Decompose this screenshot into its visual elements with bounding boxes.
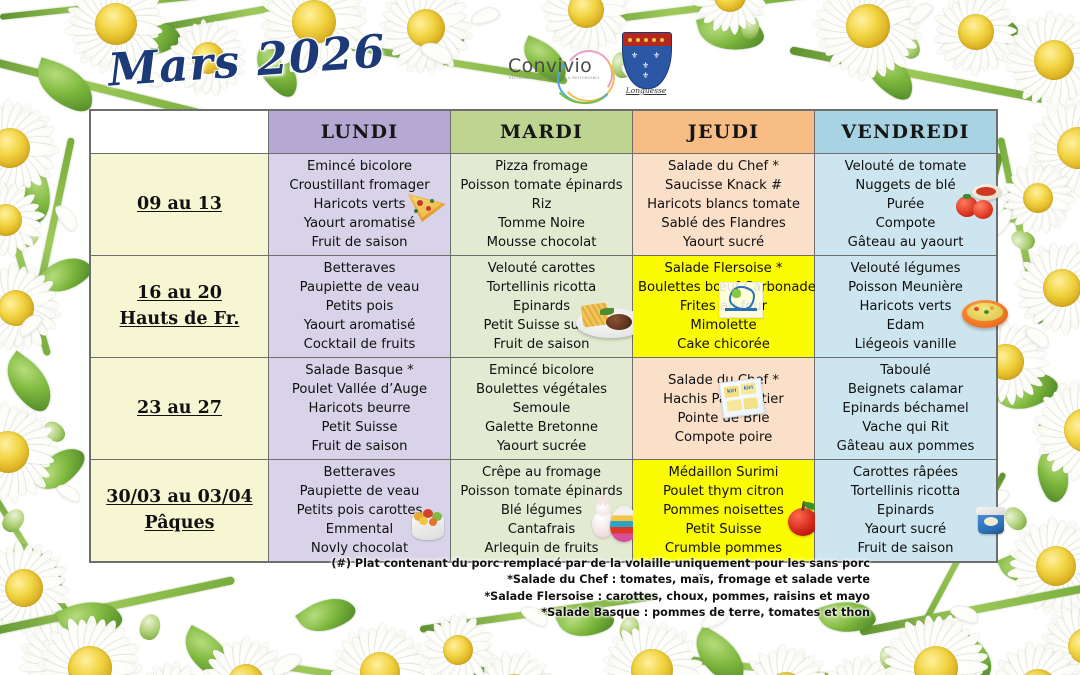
petal-shape [553, 6, 590, 41]
petal-shape [1054, 642, 1080, 675]
petal-shape [648, 665, 692, 675]
petal-shape [7, 446, 56, 467]
petal-shape [391, 23, 430, 58]
petal-shape [0, 411, 13, 457]
petal-shape [710, 0, 735, 33]
petal-shape [0, 144, 15, 185]
flower-center [842, 0, 894, 52]
petal-shape [4, 307, 22, 349]
menu-cell-jeudi-week4: Médaillon SurimiPoulet thym citronPommes… [633, 460, 815, 562]
petal-shape [1032, 642, 1056, 675]
petal-shape [1014, 647, 1043, 675]
dish-item: Compote [820, 214, 991, 233]
petal-shape [414, 27, 432, 73]
petal-shape [5, 446, 52, 480]
week-cell-2: 16 au 20Hauts de Fr. [91, 256, 269, 358]
petal-shape [2, 404, 22, 453]
petal-shape [14, 303, 57, 331]
petal-shape [1060, 271, 1080, 294]
petal-shape [64, 608, 90, 659]
petal-shape [866, 3, 918, 33]
petal-shape [18, 546, 34, 589]
petal-shape [8, 142, 56, 171]
petal-shape [1001, 360, 1027, 398]
shield-icon: ⚜ ⚜ ⚜ ⚜ [622, 32, 672, 89]
petal-shape [1003, 357, 1045, 389]
petal-shape [930, 665, 964, 675]
petal-shape [310, 0, 362, 28]
petal-shape [1061, 282, 1080, 303]
petal-shape [1058, 284, 1080, 321]
petal-shape [813, 17, 868, 33]
leaf-shape [696, 5, 766, 59]
petal-shape [0, 584, 28, 625]
petal-shape [1043, 13, 1060, 61]
petal-shape [244, 665, 287, 675]
petal-shape [648, 637, 694, 675]
petal-shape [0, 304, 20, 345]
petal-shape [1050, 55, 1080, 90]
petal-shape [111, 0, 156, 29]
petal-shape [40, 647, 92, 674]
petal-shape [1005, 348, 1047, 368]
petal-shape [1031, 198, 1042, 232]
petal-shape [1074, 143, 1080, 180]
petal-shape [0, 220, 11, 254]
flower-center [224, 660, 268, 675]
petal-shape [0, 138, 11, 154]
petal-shape [1041, 565, 1063, 614]
petal-shape [0, 186, 11, 220]
petal-shape [1033, 423, 1080, 438]
petal-shape [240, 640, 262, 675]
flower-center [1018, 178, 1058, 218]
petal-shape [970, 32, 982, 75]
petal-shape [845, 24, 875, 77]
petal-shape [930, 664, 969, 675]
petal-shape [438, 648, 462, 675]
petal-shape [377, 667, 424, 675]
petal-shape [973, 27, 1014, 56]
petal-shape [1072, 146, 1080, 192]
petal-shape [73, 18, 119, 46]
petal-shape [615, 666, 657, 675]
petal-shape [66, 624, 114, 663]
petal-shape [0, 109, 14, 153]
petal-shape [454, 648, 477, 675]
petal-shape [19, 585, 52, 632]
petal-shape [72, 4, 118, 30]
petal-shape [25, 652, 72, 675]
petal-shape [1033, 197, 1053, 233]
petal-shape [652, 664, 698, 675]
petal-shape [637, 621, 659, 671]
petal-shape [626, 667, 657, 675]
petal-shape [1020, 196, 1042, 234]
petal-shape [1058, 283, 1080, 323]
petal-shape [603, 664, 653, 675]
petal-shape [331, 666, 380, 675]
petal-shape [1072, 102, 1080, 149]
petal-shape [650, 647, 698, 675]
petal-shape [568, 8, 591, 53]
petal-shape [934, 12, 978, 38]
petal-shape [725, 0, 740, 35]
petal-shape [0, 303, 19, 335]
petal-shape [2, 218, 27, 253]
petal-shape [728, 0, 767, 19]
dish-item: Betteraves [274, 259, 445, 278]
petal-shape [934, 661, 988, 675]
petal-shape [815, 19, 869, 42]
petal-shape [1050, 525, 1078, 569]
dish-item: Frites au four [638, 297, 809, 316]
petal-shape [4, 102, 34, 151]
petal-shape [1009, 173, 1041, 202]
daisy-flower [981, 631, 1080, 675]
petal-shape [560, 0, 592, 13]
petal-shape [975, 27, 1019, 46]
petal-shape [1071, 645, 1080, 675]
petal-shape [942, 28, 980, 64]
petal-shape [637, 619, 659, 671]
petal-shape [67, 652, 115, 675]
petal-shape [1037, 185, 1072, 203]
petal-shape [726, 0, 759, 26]
petal-shape [340, 667, 384, 675]
flower-bud [739, 14, 761, 40]
dish-list: Pizza fromagePoisson tomate épinardsRizT… [451, 154, 632, 255]
header-row: LUNDI MARDI JEUDI VENDREDI [91, 111, 997, 154]
petal-shape [0, 305, 21, 346]
petal-shape [88, 662, 138, 675]
petal-shape [1025, 260, 1065, 293]
petal-shape [110, 0, 139, 26]
petal-shape [375, 634, 416, 675]
petal-shape [696, 0, 730, 1]
petal-shape [1056, 560, 1080, 573]
petal-shape [64, 656, 88, 675]
petal-shape [21, 583, 65, 616]
petal-shape [647, 628, 690, 675]
petal-shape [13, 281, 52, 313]
petal-shape [0, 582, 24, 597]
petal-shape [649, 664, 697, 675]
petal-shape [1033, 130, 1080, 154]
petal-shape [1010, 52, 1054, 67]
petal-shape [1008, 547, 1057, 572]
petal-shape [4, 102, 25, 149]
dish-item: Tomme Noire [456, 214, 627, 233]
commune-name: Longuesse [622, 86, 670, 95]
petal-shape [11, 306, 36, 347]
flower-bud [137, 612, 163, 643]
petal-shape [424, 630, 460, 654]
petal-shape [545, 4, 587, 24]
petal-shape [849, 0, 875, 28]
petal-shape [83, 667, 103, 675]
petal-shape [68, 13, 116, 30]
petal-shape [0, 143, 14, 180]
flower-center [2, 566, 45, 609]
petal-shape [409, 0, 432, 30]
petal-shape [0, 142, 12, 170]
petal-shape [617, 626, 657, 674]
petal-shape [1050, 522, 1068, 567]
petal-shape [0, 451, 14, 499]
petal-shape [1014, 561, 1060, 600]
convivio-tagline: RESTAURATION AUTHENTIQUE & RESPONSABLE [509, 76, 600, 80]
petal-shape [1030, 563, 1061, 610]
petal-shape [1005, 192, 1038, 203]
petal-shape [1044, 640, 1080, 653]
petal-shape [440, 619, 462, 652]
petal-shape [1039, 286, 1068, 333]
petal-shape [646, 626, 679, 673]
petal-shape [936, 27, 977, 46]
petal-shape [1032, 563, 1062, 609]
petal-shape [1039, 59, 1061, 108]
petal-shape [35, 614, 75, 662]
petal-shape [1013, 54, 1057, 83]
petal-shape [420, 0, 443, 29]
petal-shape [4, 216, 39, 240]
daisy-flower [0, 385, 75, 518]
petal-shape [838, 22, 874, 70]
petal-shape [972, 28, 1007, 63]
leaf-shape [175, 625, 241, 675]
dish-item: Médaillon Surimi [638, 463, 809, 482]
petal-shape [1056, 286, 1080, 328]
petal-shape [606, 642, 655, 675]
petal-shape [838, 0, 875, 29]
petal-shape [727, 0, 762, 18]
petal-shape [618, 628, 657, 674]
petal-shape [1002, 358, 1037, 397]
dish-item: Compote poire [638, 428, 809, 447]
petal-shape [423, 23, 468, 52]
dish-list: Emincé bicoloreCroustillant fromagerHari… [269, 154, 450, 255]
petal-shape [1053, 54, 1080, 72]
petal-shape [509, 656, 541, 675]
petal-shape [264, 8, 315, 29]
petal-shape [424, 10, 466, 33]
petal-shape [377, 666, 422, 675]
petal-shape [0, 295, 17, 314]
petal-shape [0, 220, 11, 256]
petal-shape [922, 620, 943, 669]
petal-shape [5, 144, 45, 188]
petal-shape [560, 7, 591, 48]
dish-item: Sablé des Flandres [638, 214, 809, 233]
petal-shape [729, 0, 768, 10]
petal-shape [18, 586, 41, 631]
petal-shape [7, 446, 54, 467]
petal-shape [312, 3, 367, 29]
petal-shape [3, 191, 36, 224]
petal-shape [69, 666, 96, 675]
petal-shape [512, 670, 552, 675]
petal-shape [1035, 174, 1069, 202]
petal-shape [1052, 533, 1080, 571]
petal-shape [782, 658, 825, 675]
petal-shape [996, 668, 1040, 675]
petal-shape [1029, 252, 1067, 292]
dish-item: Haricots blancs tomate [638, 195, 809, 214]
petal-shape [1009, 560, 1057, 581]
petal-shape [1025, 522, 1061, 569]
petal-shape [113, 0, 160, 30]
daisy-flower [1017, 361, 1080, 499]
petal-shape [898, 664, 941, 675]
petal-shape [1052, 529, 1080, 571]
petal-shape [996, 361, 1012, 402]
petal-shape [1024, 562, 1061, 603]
petal-shape [1072, 146, 1080, 197]
menu-cell-vendredi-week1: Velouté de tomateNuggets de bléPuréeComp… [815, 154, 997, 256]
petal-shape [1033, 648, 1065, 675]
petal-shape [214, 650, 250, 675]
petal-shape [866, 2, 920, 32]
petal-shape [67, 3, 118, 30]
petal-shape [58, 665, 96, 675]
petal-shape [4, 147, 27, 195]
petal-shape [70, 652, 116, 668]
petal-shape [1061, 643, 1080, 675]
petal-shape [1052, 54, 1080, 81]
menu-cell-mardi-week2: Velouté carottesTortellinis ricottaEpina… [451, 256, 633, 358]
petal-shape [651, 664, 699, 675]
petal-shape [0, 302, 16, 316]
petal-shape [456, 629, 492, 654]
petal-shape [380, 19, 426, 34]
dish-list: Velouté de tomateNuggets de bléPuréeComp… [815, 154, 996, 255]
petal-shape [783, 662, 822, 675]
petal-shape [3, 448, 41, 496]
dish-item: Croustillant fromager [274, 176, 445, 195]
petal-shape [1051, 562, 1080, 606]
petal-shape [1046, 242, 1067, 289]
petal-shape [1048, 13, 1077, 62]
petal-shape [1012, 42, 1056, 66]
petal-shape [0, 557, 28, 593]
petal-shape [0, 128, 12, 154]
dish-item: Tortellinis ricotta [820, 482, 991, 501]
petal-shape [421, 25, 458, 70]
petal-shape [4, 104, 24, 149]
petal-shape [312, 4, 361, 29]
petal-shape [647, 666, 688, 675]
week-label: 16 au 20Hauts de Fr. [91, 281, 268, 332]
petal-shape [1050, 27, 1080, 65]
dish-list: Velouté carottesTortellinis ricottaEpina… [451, 256, 632, 357]
dish-item: Tortellinis ricotta [456, 278, 627, 297]
petal-shape [335, 667, 383, 675]
petal-shape [1048, 16, 1066, 61]
petal-shape [1013, 560, 1059, 589]
petal-shape [935, 661, 983, 675]
petal-shape [4, 447, 46, 487]
petal-shape [415, 27, 432, 71]
leaf-shape [0, 351, 64, 416]
petal-shape [553, 0, 590, 14]
petal-shape [20, 553, 63, 593]
petal-shape [1014, 649, 1043, 675]
petal-shape [21, 563, 68, 593]
petal-shape [4, 413, 50, 457]
daisy-flower [813, 647, 908, 675]
petal-shape [20, 640, 71, 664]
dish-item: Emincé bicolore [274, 157, 445, 176]
petal-shape [349, 634, 385, 675]
leaf-shape [992, 359, 1061, 424]
petal-shape [554, 0, 590, 14]
petal-shape [856, 659, 884, 675]
petal-shape [0, 575, 25, 594]
petal-shape [1034, 16, 1060, 62]
petal-shape [404, 26, 431, 69]
petal-shape [33, 654, 75, 675]
petal-shape [1, 184, 18, 221]
menu-cell-lundi-week4: BetteravesPaupiette de veauPetits pois c… [269, 460, 451, 562]
petal-shape [1001, 361, 1019, 403]
petal-shape [1006, 357, 1049, 369]
petal-shape [0, 302, 17, 317]
petal-shape [46, 615, 76, 660]
dish-item: Pizza fromage [456, 157, 627, 176]
petal-shape [457, 640, 491, 655]
petal-shape [1049, 287, 1068, 332]
petal-shape [21, 583, 66, 618]
petal-shape [1034, 169, 1062, 201]
petal-shape [424, 639, 459, 655]
petal-shape [885, 662, 940, 675]
petal-shape [366, 627, 386, 673]
petal-shape [1056, 287, 1072, 335]
petal-shape [693, 0, 731, 10]
week-line: Hauts de Fr. [120, 309, 240, 329]
dish-item: Poulet Vallée d’Auge [274, 380, 445, 399]
petal-shape [1035, 660, 1080, 675]
petal-shape [1059, 427, 1080, 476]
petal-shape [420, 0, 433, 28]
petal-shape [65, 654, 106, 675]
petal-shape [10, 308, 24, 348]
dish-list: Velouté légumesPoisson MeunièreHaricots … [815, 256, 996, 357]
petal-shape [55, 480, 84, 505]
petal-shape [0, 215, 6, 226]
petal-shape [1072, 145, 1080, 193]
dish-item: Yaourt aromatisé [274, 214, 445, 233]
petal-shape [0, 564, 27, 594]
petal-shape [931, 625, 974, 672]
week-cell-1: 09 au 13 [91, 154, 269, 256]
petal-shape [610, 664, 655, 675]
petal-shape [7, 123, 53, 154]
dish-item: Taboulé [820, 361, 991, 380]
petal-shape [726, 0, 750, 28]
petal-shape [1066, 380, 1080, 432]
petal-shape [0, 137, 11, 154]
petal-shape [1059, 260, 1080, 293]
petal-shape [0, 215, 7, 235]
petal-shape [374, 625, 388, 672]
dish-item: Poisson Meunière [820, 278, 991, 297]
petal-shape [243, 657, 283, 675]
petal-shape [0, 278, 20, 313]
petal-shape [844, 24, 875, 79]
petal-shape [976, 23, 1016, 37]
